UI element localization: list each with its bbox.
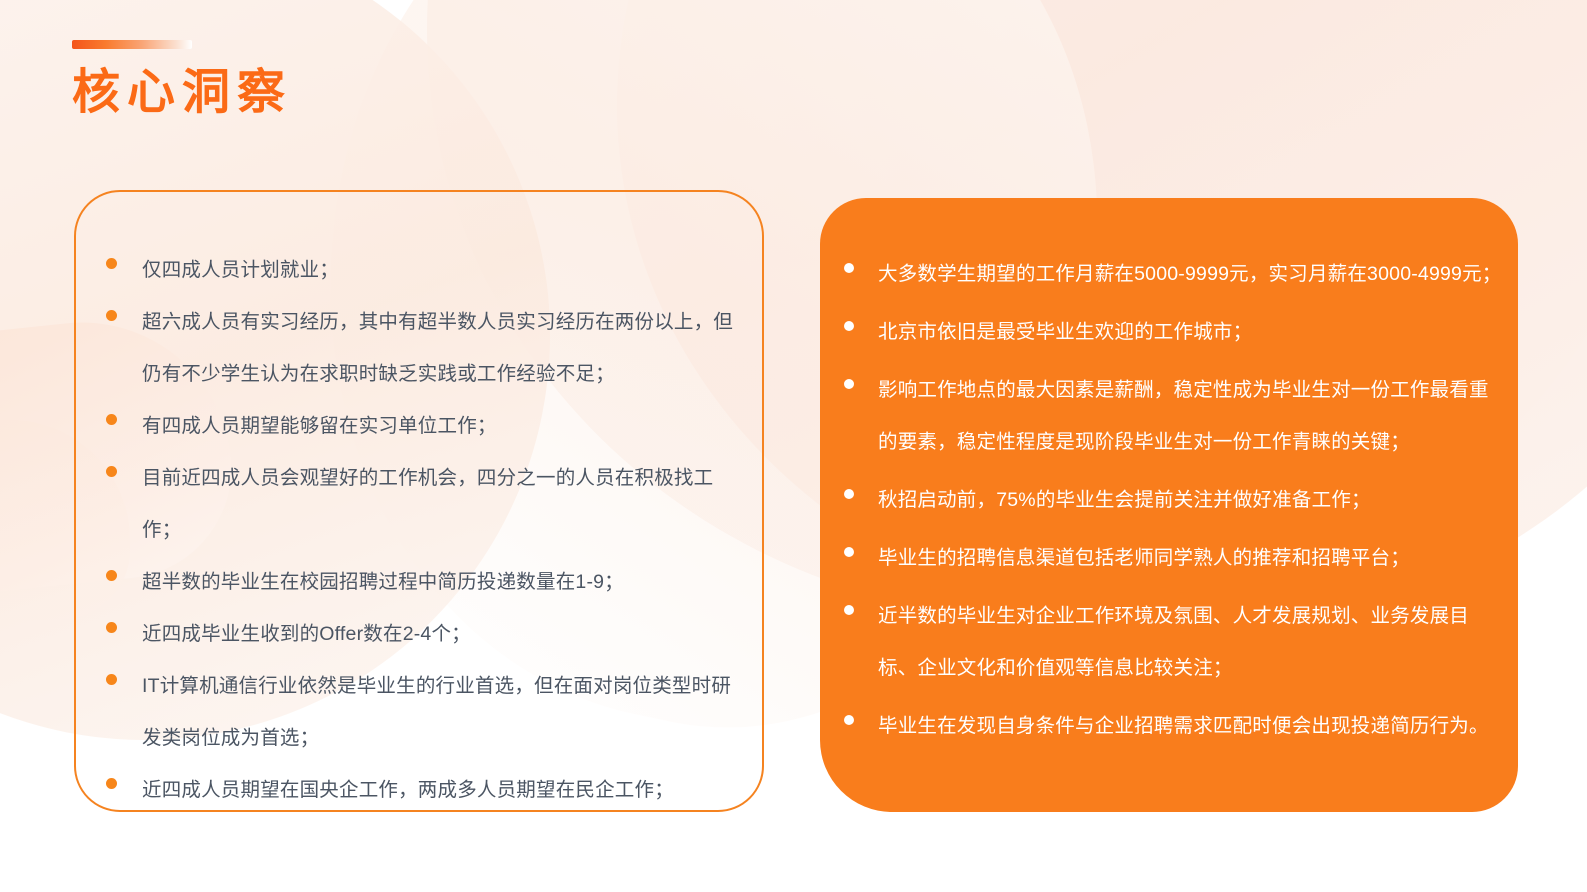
list-item-label: 北京市依旧是最受毕业生欢迎的工作城市； bbox=[878, 306, 1252, 358]
list-item: 北京市依旧是最受毕业生欢迎的工作城市； bbox=[844, 306, 1504, 358]
list-item-label: 有四成人员期望能够留在实习单位工作； bbox=[142, 400, 497, 452]
bullet-dot-icon bbox=[106, 570, 117, 581]
bullet-dot-icon bbox=[844, 379, 854, 389]
list-item: 近半数的毕业生对企业工作环境及氛围、人才发展规划、业务发展目标、企业文化和价值观… bbox=[844, 590, 1504, 694]
list-item-label: 近四成毕业生收到的Offer数在2-4个； bbox=[142, 608, 471, 660]
list-item: 超六成人员有实习经历，其中有超半数人员实习经历在两份以上，但仍有不少学生认为在求… bbox=[106, 296, 738, 400]
insights-card-right: 大多数学生期望的工作月薪在5000-9999元，实习月薪在3000-4999元；… bbox=[820, 198, 1518, 812]
list-item: 毕业生在发现自身条件与企业招聘需求匹配时便会出现投递简历行为。 bbox=[844, 700, 1504, 752]
title-accent-bar bbox=[72, 40, 192, 49]
list-item: 近四成毕业生收到的Offer数在2-4个； bbox=[106, 608, 738, 660]
list-item: IT计算机通信行业依然是毕业生的行业首选，但在面对岗位类型时研发类岗位成为首选； bbox=[106, 660, 738, 764]
bullet-dot-icon bbox=[844, 489, 854, 499]
list-item-label: 大多数学生期望的工作月薪在5000-9999元，实习月薪在3000-4999元； bbox=[878, 248, 1502, 300]
bullet-dot-icon bbox=[106, 778, 117, 789]
bullet-dot-icon bbox=[844, 321, 854, 331]
left-card-bullet-list: 仅四成人员计划就业； 超六成人员有实习经历，其中有超半数人员实习经历在两份以上，… bbox=[76, 192, 762, 816]
list-item: 近四成人员期望在国央企工作，两成多人员期望在民企工作； bbox=[106, 764, 738, 816]
bullet-dot-icon bbox=[844, 263, 854, 273]
list-item-label: 近四成人员期望在国央企工作，两成多人员期望在民企工作； bbox=[142, 764, 674, 816]
bullet-dot-icon bbox=[844, 547, 854, 557]
right-card-bullet-list: 大多数学生期望的工作月薪在5000-9999元，实习月薪在3000-4999元；… bbox=[820, 198, 1518, 758]
list-item-label: IT计算机通信行业依然是毕业生的行业首选，但在面对岗位类型时研发类岗位成为首选； bbox=[142, 660, 738, 764]
list-item-label: 目前近四成人员会观望好的工作机会，四分之一的人员在积极找工作； bbox=[142, 452, 738, 556]
page-title-block: 核心洞察 bbox=[72, 40, 292, 120]
list-item: 超半数的毕业生在校园招聘过程中简历投递数量在1-9； bbox=[106, 556, 738, 608]
list-item: 仅四成人员计划就业； bbox=[106, 244, 738, 296]
bullet-dot-icon bbox=[106, 258, 117, 269]
list-item-label: 影响工作地点的最大因素是薪酬，稳定性成为毕业生对一份工作最看重的要素，稳定性程度… bbox=[878, 364, 1504, 468]
bullet-dot-icon bbox=[106, 674, 117, 685]
list-item-label: 秋招启动前，75%的毕业生会提前关注并做好准备工作； bbox=[878, 474, 1371, 526]
list-item: 大多数学生期望的工作月薪在5000-9999元，实习月薪在3000-4999元； bbox=[844, 248, 1504, 300]
bullet-dot-icon bbox=[106, 622, 117, 633]
bullet-dot-icon bbox=[106, 310, 117, 321]
page-title: 核心洞察 bbox=[72, 65, 292, 120]
list-item-label: 超六成人员有实习经历，其中有超半数人员实习经历在两份以上，但仍有不少学生认为在求… bbox=[142, 296, 738, 400]
list-item-label: 毕业生的招聘信息渠道包括老师同学熟人的推荐和招聘平台； bbox=[878, 532, 1410, 584]
list-item-label: 毕业生在发现自身条件与企业招聘需求匹配时便会出现投递简历行为。 bbox=[878, 700, 1489, 752]
list-item-label: 近半数的毕业生对企业工作环境及氛围、人才发展规划、业务发展目标、企业文化和价值观… bbox=[878, 590, 1504, 694]
bullet-dot-icon bbox=[106, 414, 117, 425]
bullet-dot-icon bbox=[844, 605, 854, 615]
list-item: 目前近四成人员会观望好的工作机会，四分之一的人员在积极找工作； bbox=[106, 452, 738, 556]
list-item: 影响工作地点的最大因素是薪酬，稳定性成为毕业生对一份工作最看重的要素，稳定性程度… bbox=[844, 364, 1504, 468]
list-item-label: 仅四成人员计划就业； bbox=[142, 244, 339, 296]
bullet-dot-icon bbox=[844, 715, 854, 725]
slide-root: 核心洞察 仅四成人员计划就业； 超六成人员有实习经历，其中有超半数人员实习经历在… bbox=[0, 0, 1587, 892]
list-item: 秋招启动前，75%的毕业生会提前关注并做好准备工作； bbox=[844, 474, 1504, 526]
list-item: 毕业生的招聘信息渠道包括老师同学熟人的推荐和招聘平台； bbox=[844, 532, 1504, 584]
insights-card-left: 仅四成人员计划就业； 超六成人员有实习经历，其中有超半数人员实习经历在两份以上，… bbox=[74, 190, 764, 812]
bullet-dot-icon bbox=[106, 466, 117, 477]
list-item: 有四成人员期望能够留在实习单位工作； bbox=[106, 400, 738, 452]
list-item-label: 超半数的毕业生在校园招聘过程中简历投递数量在1-9； bbox=[142, 556, 624, 608]
